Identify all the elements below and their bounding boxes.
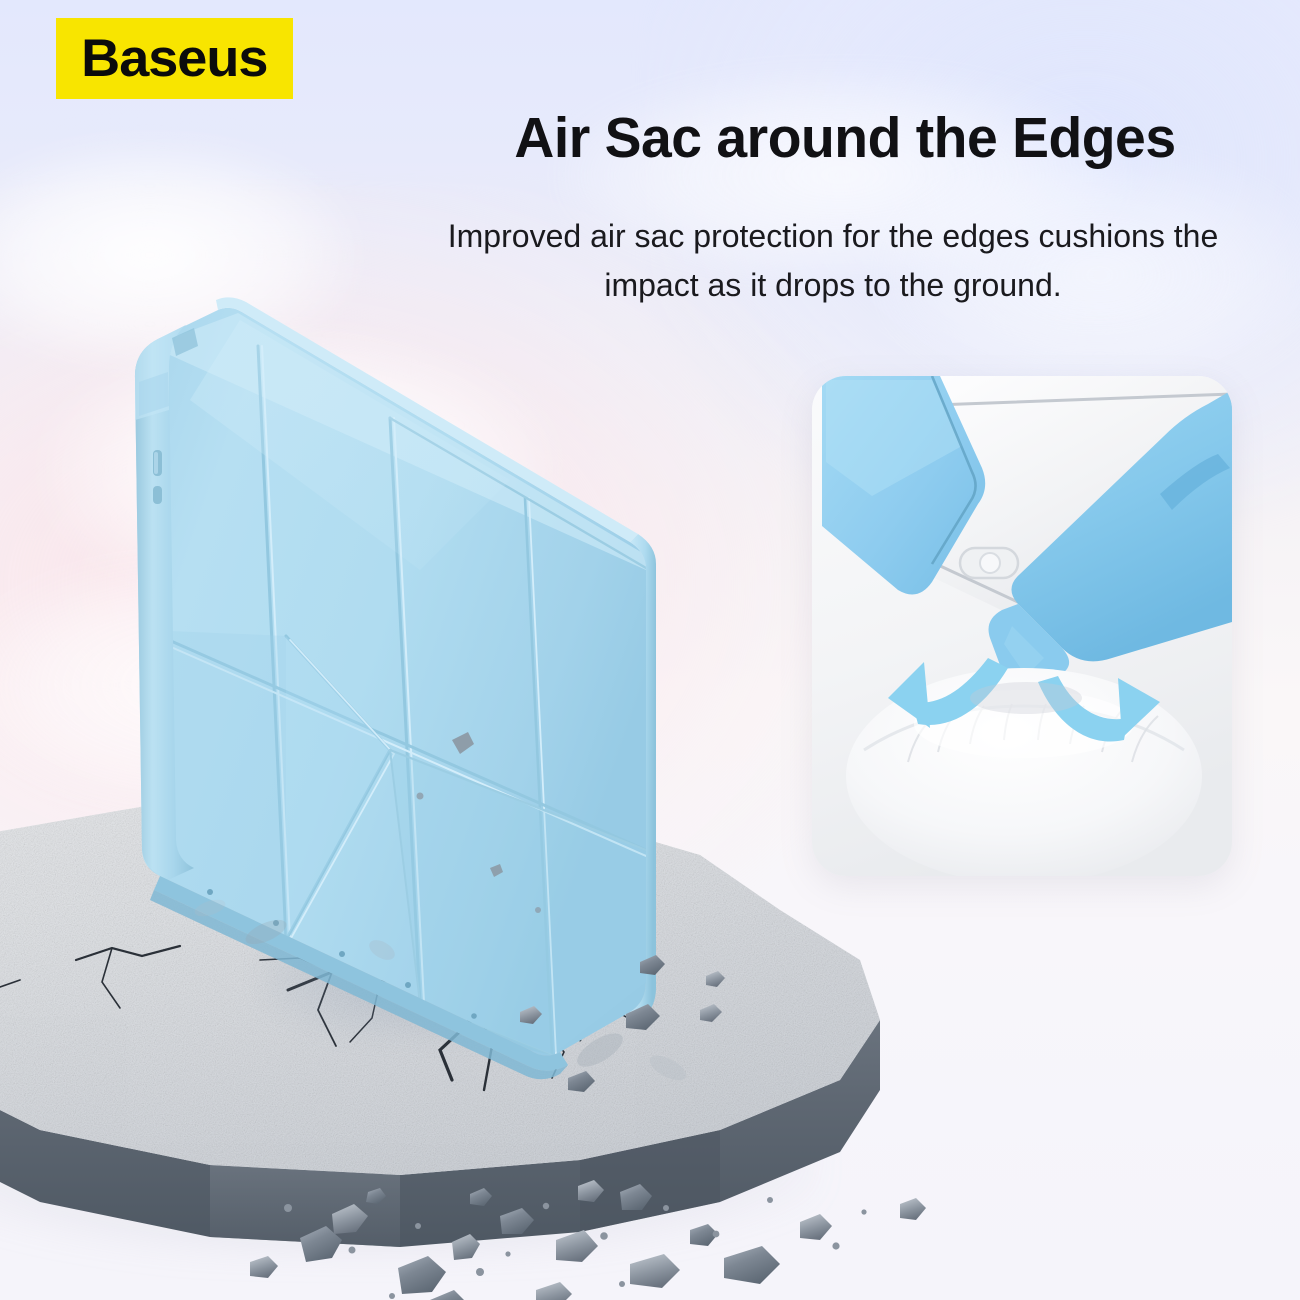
tablet-case-product: [90, 150, 690, 1100]
product-feature-banner: Baseus Air Sac around the Edges Improved…: [0, 0, 1300, 1300]
tablet-geometry: [90, 150, 690, 1100]
brand-logo-text: Baseus: [81, 32, 267, 85]
detail-inset-panel: [812, 376, 1232, 876]
camera-cutout: [960, 548, 1018, 578]
slab-side-highlight: [210, 1165, 400, 1247]
inset-illustration: [812, 376, 1232, 876]
brand-logo-badge: Baseus: [56, 18, 293, 99]
inset-contact-shadow: [970, 682, 1082, 714]
